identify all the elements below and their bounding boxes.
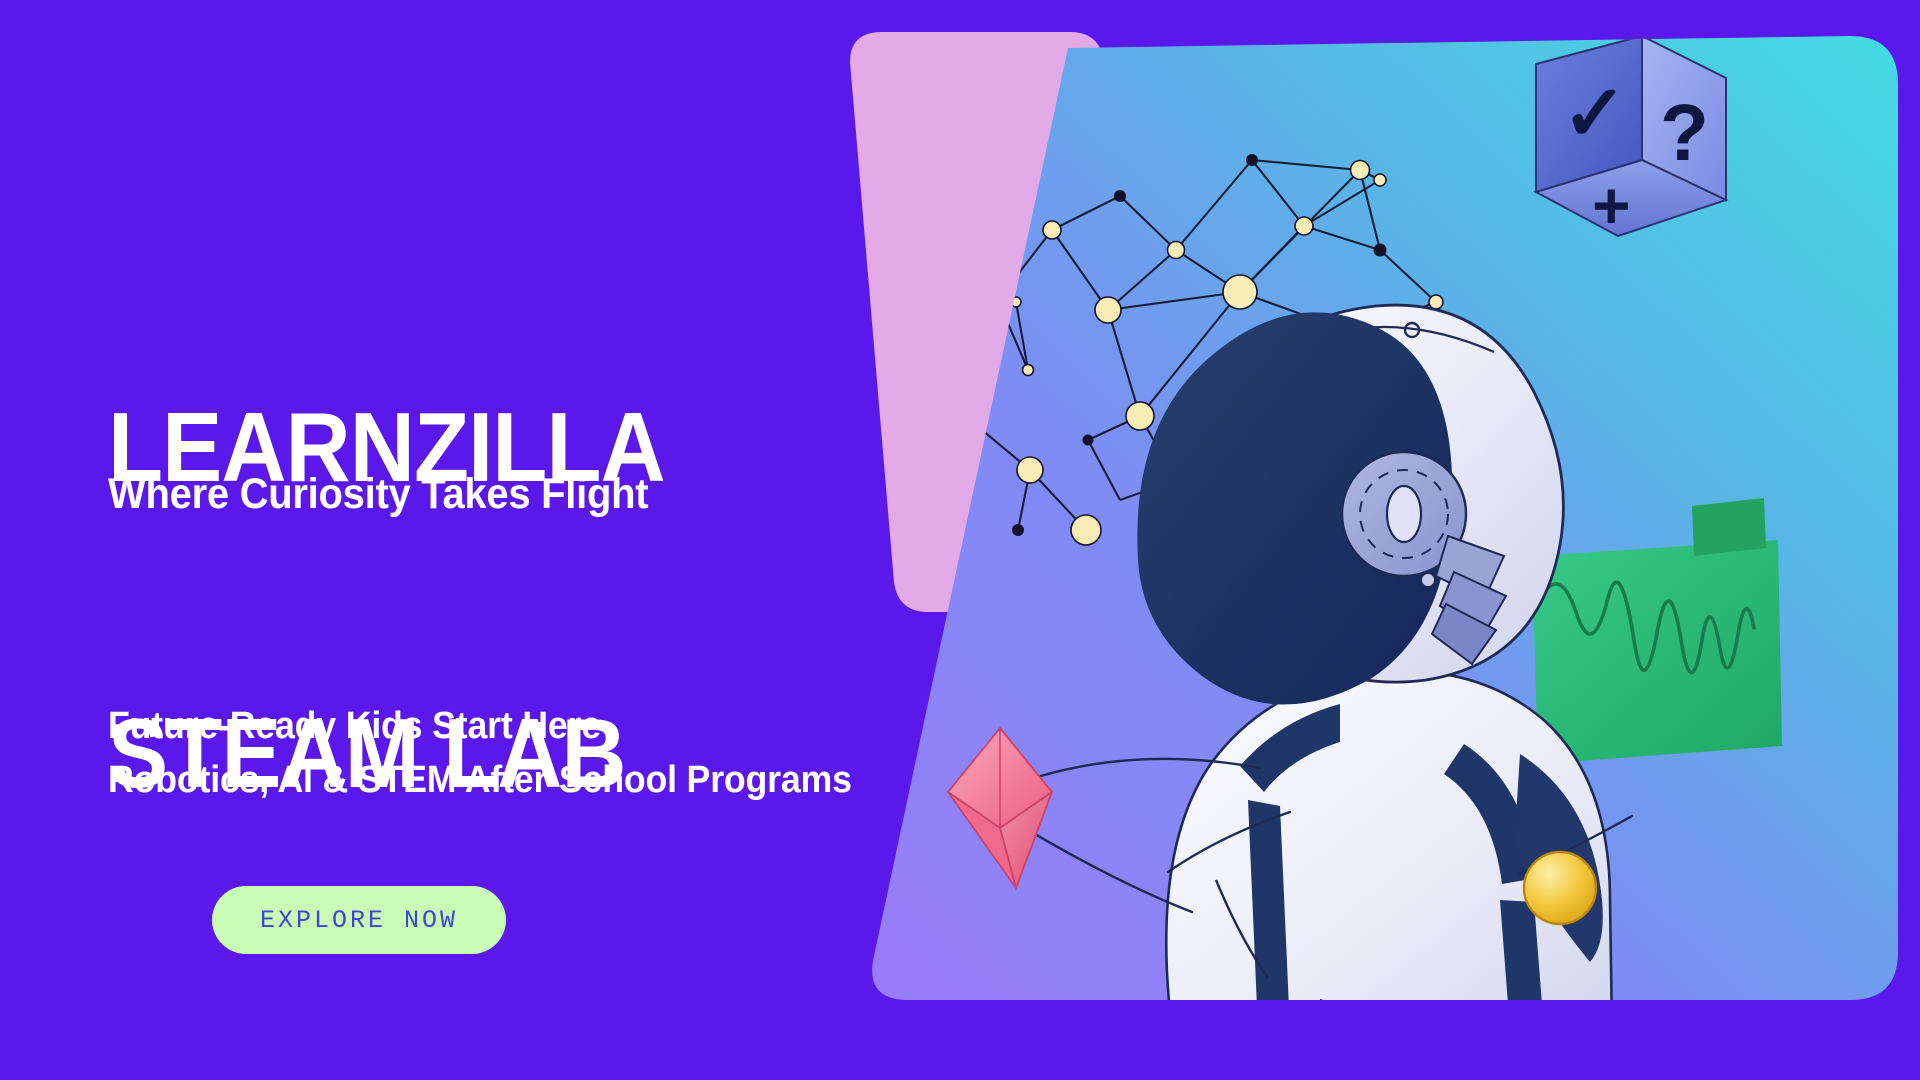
robot-neck — [1320, 556, 1456, 680]
robot-neck-cables — [1392, 612, 1443, 722]
cube-plus-glyph: + — [1592, 168, 1631, 242]
explore-now-button[interactable]: EXPLORE NOW — [212, 886, 506, 954]
robot-torso — [1166, 671, 1612, 1030]
gold-sphere-shape — [1524, 852, 1596, 924]
brand-title: LEARNZILLA STEAM LAB — [108, 194, 936, 1009]
body-copy-line-1: Future-Ready Kids Start Here — [108, 700, 852, 754]
cube-question-glyph: ? — [1660, 88, 1709, 177]
tagline: Where Curiosity Takes Flight — [108, 470, 648, 519]
robot-head — [1137, 312, 1452, 704]
waveform-chart-panel — [1532, 498, 1782, 764]
steam-cube-icon: ✓ ? + — [1536, 36, 1726, 242]
body-copy-line-2: Robotics, AI & STEM After-School Program… — [108, 754, 852, 808]
robot-ear-fins — [1432, 536, 1506, 664]
cube-check-glyph: ✓ — [1562, 69, 1627, 157]
promo-banner: LEARNZILLA STEAM LAB Where Curiosity Tak… — [0, 0, 1920, 1080]
robot-led-strip — [1298, 358, 1342, 421]
robot-helmet — [1220, 305, 1564, 682]
text-column: LEARNZILLA STEAM LAB Where Curiosity Tak… — [108, 0, 1108, 1080]
robot-ear-module — [1342, 452, 1466, 587]
body-copy: Future-Ready Kids Start Here Robotics, A… — [108, 700, 852, 808]
